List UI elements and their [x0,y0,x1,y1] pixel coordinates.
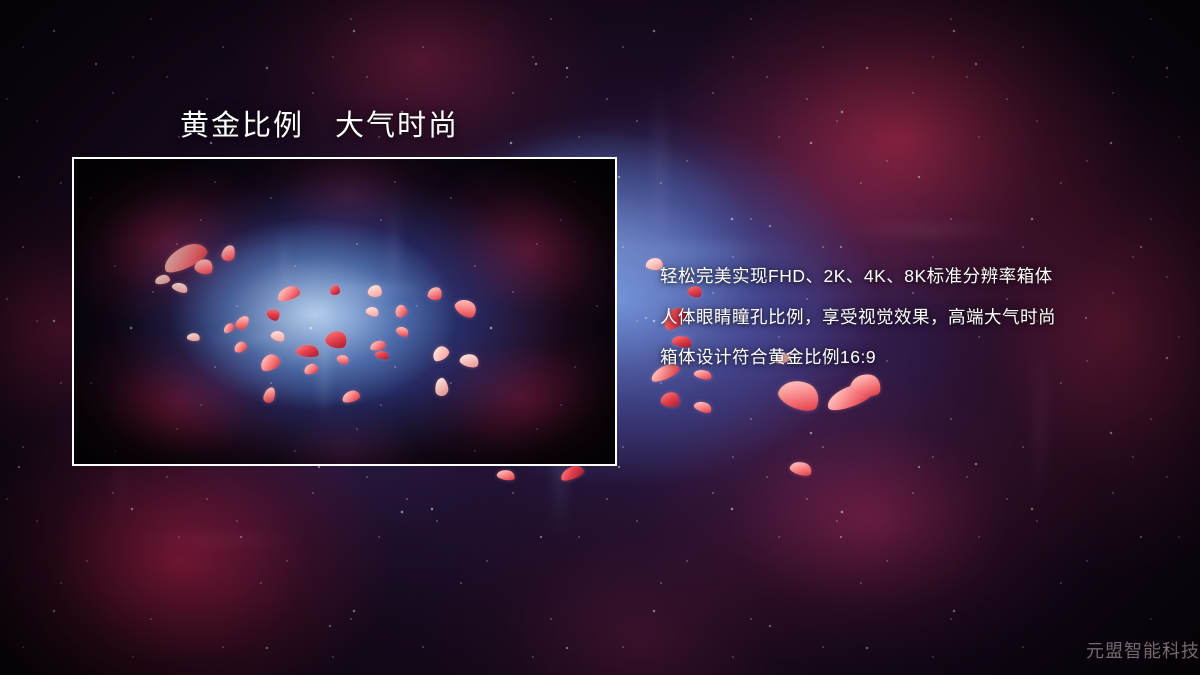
petal-shape [367,284,383,298]
petal-shape [295,343,319,358]
panel-starfield [74,159,615,464]
body-line: 箱体设计符合黄金比例16:9 [660,337,1160,378]
petal-shape [171,280,189,294]
watermark: 元盟智能科技 [1086,637,1200,663]
petal-shape [160,239,211,277]
petal-shape [427,286,443,302]
petal-shape [824,380,874,413]
petal-shape [303,363,319,376]
petal-shape [430,344,451,364]
petal-shape [262,386,277,404]
body-text-block: 轻松完美实现FHD、2K、4K、8K标准分辨率箱体 人体眼睛瞳孔比例，享受视觉效… [660,256,1160,378]
petal-shape [434,377,449,397]
petal-shape [154,274,170,285]
petal-shape [789,459,814,478]
petal-shape [559,463,586,482]
slide-canvas: 黄金比例 大气时尚 轻松完美实现FHD、2K、4K、8K标准分辨率箱体 人体眼睛… [0,0,1200,675]
body-line: 人体眼睛瞳孔比例，享受视觉效果，高端大气时尚 [660,297,1160,338]
petal-shape [233,340,248,354]
petal-shape [265,306,282,323]
petal-shape [187,332,201,342]
panel-vignette [74,159,615,464]
petal-shape [452,295,479,321]
petal-shape [330,285,340,295]
petal-shape [458,351,480,369]
petal-shape [220,244,236,262]
petal-shape [775,374,824,416]
petal-shape [324,328,349,351]
petal-shape [234,313,252,332]
petal-shape [193,257,215,277]
petal-shape [693,399,713,415]
petal-shape [341,389,361,404]
petal-shape [374,349,390,361]
petal-shape [365,305,380,318]
panel-nebula-wisps [74,159,615,464]
petal-shape [276,284,302,303]
petal-shape [496,468,516,482]
petal-shape [270,328,287,343]
page-title: 黄金比例 大气时尚 [180,102,459,144]
petal-shape [660,390,681,408]
petal-shape [222,322,236,335]
petal-shape [393,303,408,318]
petal-shape [369,340,386,352]
body-line: 轻松完美实现FHD、2K、4K、8K标准分辨率箱体 [660,256,1160,297]
panel-floating-petals [74,159,615,464]
petal-shape [258,352,282,373]
image-panel-frame[interactable] [72,157,617,466]
panel-nebula-image [74,159,615,464]
petal-shape [395,324,411,339]
petal-shape [336,353,351,367]
